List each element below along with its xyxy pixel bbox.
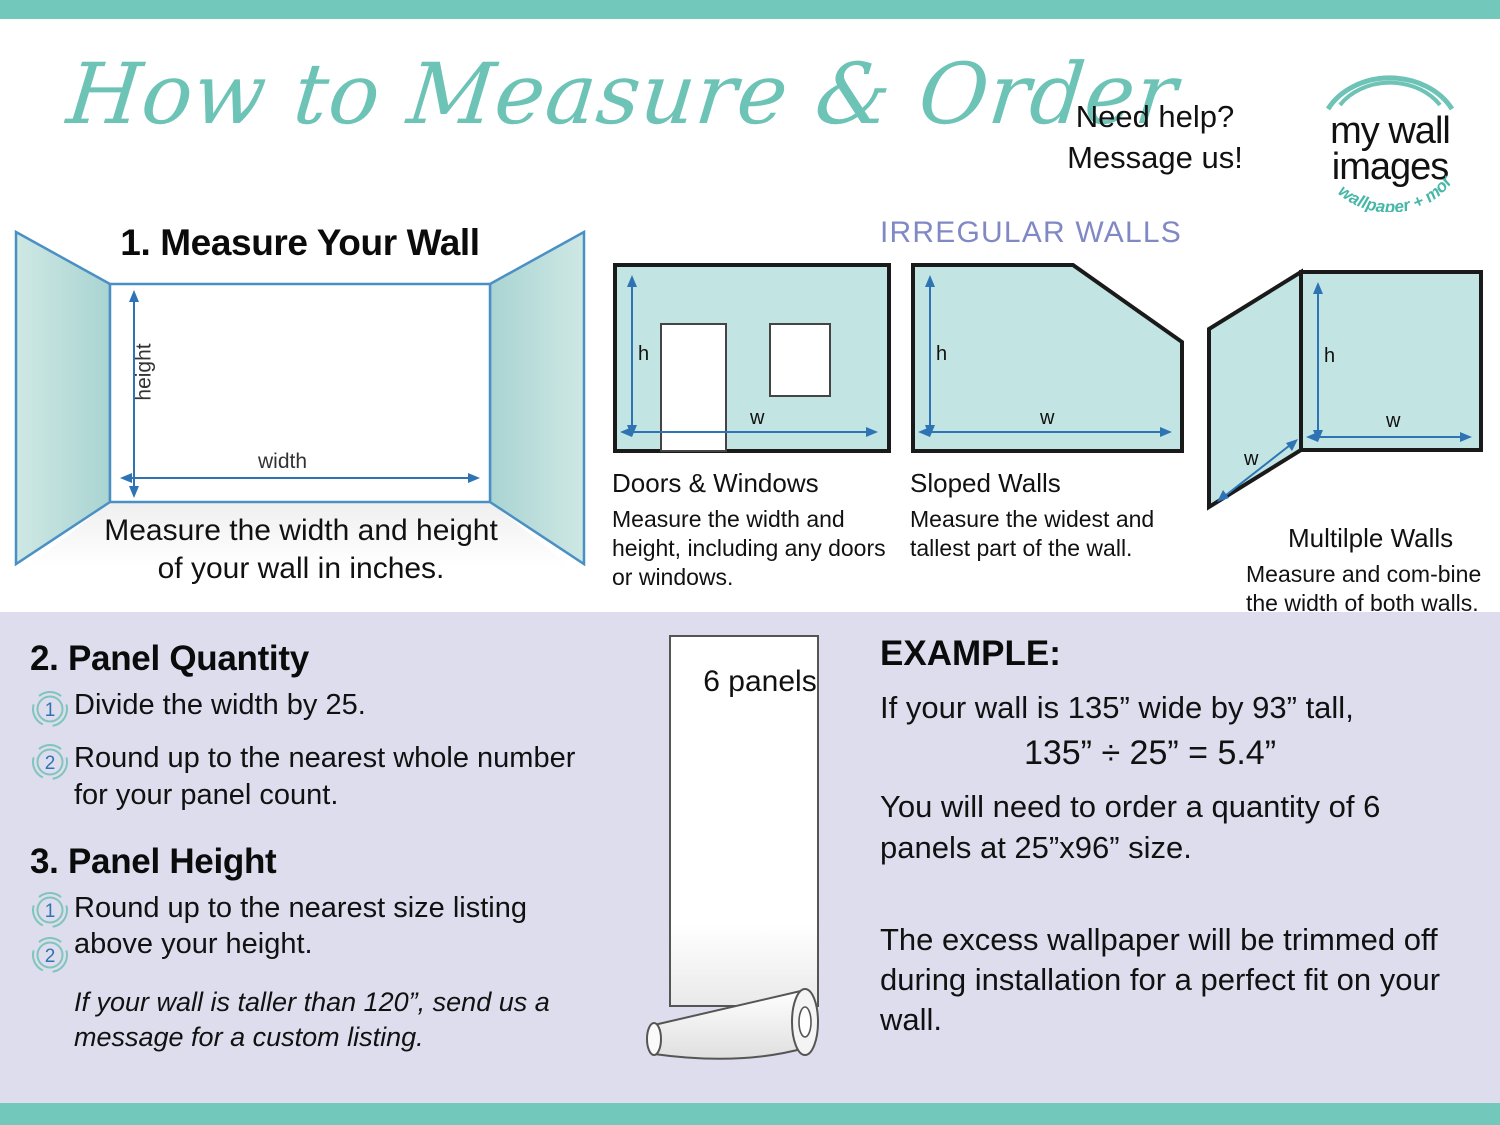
svg-text:1: 1 — [45, 901, 56, 922]
step2-bullet-2: 2 Round up to the nearest whole number f… — [30, 740, 610, 814]
diagram-multiple-walls: h w w Multilple Walls Measure and com-bi… — [1196, 262, 1496, 618]
irregular-walls-heading: IRREGULAR WALLS — [880, 216, 1200, 250]
step3-heading: 3. Panel Height — [30, 842, 610, 882]
bullet-number-icon: 2 — [30, 742, 74, 787]
svg-text:images: images — [1332, 146, 1449, 188]
steps-column: 2. Panel Quantity 1 Divide the width by … — [30, 639, 610, 1055]
example-line1: If your wall is 135” wide by 93” tall, — [880, 688, 1480, 728]
step3-bullets: 1 2 Round up to the nearest size listing… — [30, 890, 610, 1055]
page-title: How to Measure & Order — [63, 45, 1033, 143]
need-help-text: Need help? Message us! — [1040, 97, 1270, 179]
bullet-number-icon: 1 — [30, 890, 70, 930]
step2-bullet-2-text: Round up to the nearest whole number for… — [74, 740, 610, 814]
doors-windows-illustration: h w — [612, 262, 892, 457]
diagram1-desc: Measure the width and height, including … — [612, 505, 902, 591]
height-label: height — [133, 343, 157, 400]
step2-bullets: 1 Divide the width by 25. 2 Round up to … — [30, 687, 610, 814]
multiple-walls-illustration: h w w — [1196, 262, 1496, 512]
diagram-sloped-walls: h w Sloped Walls Measure the widest and … — [910, 262, 1195, 563]
section1-heading: 1. Measure Your Wall — [6, 222, 594, 264]
svg-text:w: w — [1385, 410, 1401, 432]
top-accent-bar — [0, 0, 1500, 19]
svg-text:2: 2 — [45, 946, 56, 967]
section1-caption: Measure the width and height of your wal… — [46, 512, 556, 589]
example-heading: EXAMPLE: — [880, 634, 1480, 674]
need-help-line1: Need help? — [1040, 97, 1270, 138]
bullet-number-icon: 1 — [30, 689, 74, 734]
svg-text:w: w — [1039, 407, 1055, 429]
diagram1-name: Doors & Windows — [612, 468, 902, 499]
step3-note: If your wall is taller than 120”, send u… — [74, 985, 610, 1055]
lower-panel: 2. Panel Quantity 1 Divide the width by … — [0, 612, 1500, 1103]
svg-text:w: w — [749, 407, 765, 429]
example-equation: 135” ÷ 25” = 5.4” — [880, 734, 1480, 773]
diagram-doors-windows: h w Doors & Windows Measure the width an… — [612, 262, 902, 591]
section1-caption-line2: of your wall in inches. — [46, 550, 556, 588]
svg-text:h: h — [936, 343, 947, 365]
diagram2-desc: Measure the widest and tallest part of t… — [910, 505, 1195, 563]
bullet-number-icon: 2 — [30, 935, 70, 975]
brand-logo: my wall images wallpaper + more — [1300, 67, 1480, 212]
svg-text:1: 1 — [45, 700, 56, 721]
svg-text:h: h — [1324, 345, 1335, 367]
svg-text:2: 2 — [45, 753, 56, 774]
example-column: EXAMPLE: If your wall is 135” wide by 93… — [880, 634, 1480, 1041]
example-line3: The excess wallpaper will be trimmed off… — [880, 920, 1480, 1041]
diagram3-name: Multilple Walls — [1288, 523, 1496, 554]
section-measure-wall: 1. Measure Your Wall height width Measur… — [6, 212, 594, 612]
need-help-line2: Message us! — [1040, 138, 1270, 179]
header: How to Measure & Order Need help? Messag… — [0, 19, 1500, 212]
step3-bullet-group: 1 2 Round up to the nearest size listing… — [30, 890, 610, 975]
step2-heading: 2. Panel Quantity — [30, 639, 610, 679]
step2-bullet-1: 1 Divide the width by 25. — [30, 687, 610, 734]
svg-text:h: h — [638, 343, 649, 365]
svg-text:w: w — [1243, 448, 1259, 470]
section1-caption-line1: Measure the width and height — [46, 512, 556, 550]
step2-bullet-1-text: Divide the width by 25. — [74, 687, 366, 724]
diagram3-desc: Measure and com-bine the width of both w… — [1246, 560, 1496, 618]
sloped-walls-illustration: h w — [910, 262, 1185, 457]
roll-panel-count-label: 6 panels — [700, 665, 820, 699]
diagram2-name: Sloped Walls — [910, 468, 1195, 499]
bullet-numbers: 1 2 — [30, 890, 74, 975]
step3-text: Round up to the nearest size listing abo… — [74, 890, 594, 964]
width-label: width — [258, 450, 307, 474]
example-line2: You will need to order a quantity of 6 p… — [880, 787, 1480, 868]
bottom-accent-bar — [0, 1103, 1500, 1125]
